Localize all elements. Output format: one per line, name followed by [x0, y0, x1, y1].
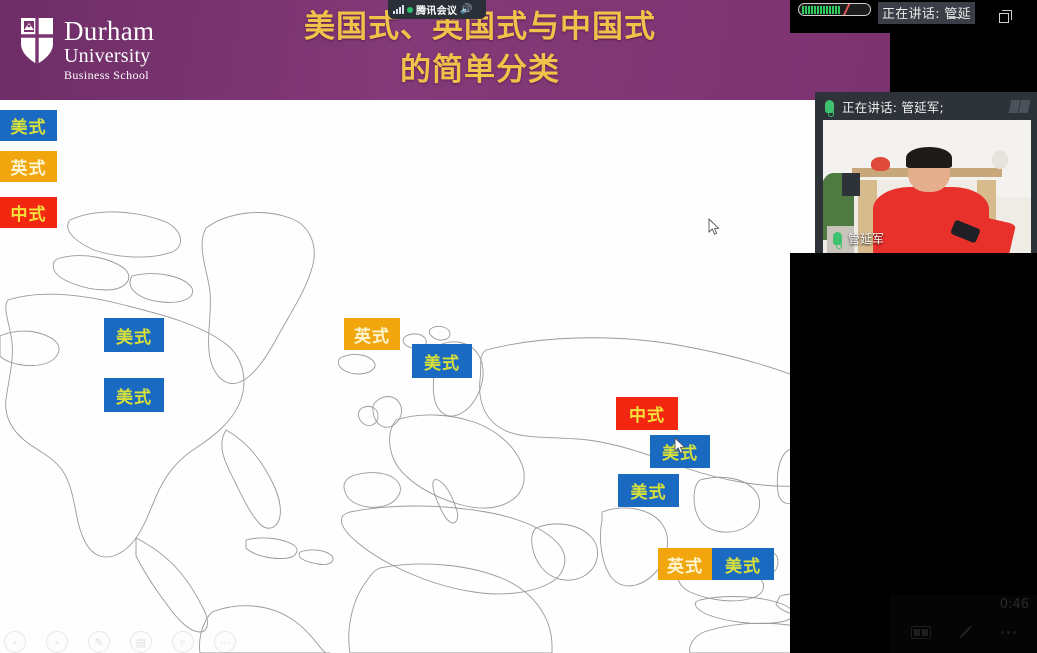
presenter-slide-grid-icon[interactable]: ▤	[130, 631, 152, 653]
more-options-icon[interactable]	[1001, 631, 1016, 634]
presenter-pen-tool-icon[interactable]: ✎	[88, 631, 110, 653]
microphone-icon	[825, 100, 834, 113]
video-panel-header: 正在讲话: 管延军;	[815, 92, 1037, 120]
restore-icon[interactable]	[993, 6, 1019, 28]
durham-logo: Durham University Business School	[18, 16, 218, 88]
presenter-toolbar[interactable]: ‹ › ✎ ▤ ⌕ ⋯	[4, 631, 236, 653]
window-background-bottom-right	[790, 253, 890, 653]
map-tag-china: 中式	[616, 397, 678, 430]
tencent-meeting-logo	[1010, 100, 1029, 113]
meeting-control-icons	[890, 619, 1037, 645]
map-tag-australia-west: 英式	[658, 548, 712, 580]
legend-tag-uk: 英式	[0, 151, 57, 182]
volume-meter-icon	[798, 3, 871, 16]
map-tag-north-america-west: 美式	[104, 318, 164, 352]
shared-slide: Durham University Business School 美国式、英国…	[0, 0, 893, 653]
map-tag-uk-europe: 英式	[344, 318, 400, 350]
presenter-more-icon[interactable]: ⋯	[214, 631, 236, 653]
world-map-area: 美式美式英式美式中式美式美式英式美式 NG ‹ › ✎ ▤ ⌕ ⋯	[0, 100, 893, 653]
participant-name-badge: 管延军	[829, 228, 890, 249]
video-panel-speaking-label: 正在讲话: 管延军;	[842, 97, 944, 116]
legend-tag-cn: 中式	[0, 197, 57, 228]
presenter-prev-slide-icon[interactable]: ‹	[4, 631, 26, 653]
participant-name: 管延军	[848, 230, 884, 247]
pill-app-label: 腾讯会议	[416, 2, 457, 17]
minimize-icon[interactable]	[943, 6, 969, 28]
gallery-view-icon[interactable]	[911, 626, 931, 639]
speaker-icon[interactable]: 🔊	[460, 4, 472, 15]
logo-line-university: University	[64, 46, 154, 66]
map-tag-australia-east: 美式	[712, 548, 774, 580]
speaking-indicator-strip: 正在讲话: 管延	[790, 0, 1037, 33]
tencent-floating-pill[interactable]: 腾讯会议 🔊	[388, 0, 486, 19]
durham-logo-text: Durham University Business School	[64, 16, 154, 81]
slide-title-line-2: 的简单分类	[230, 49, 730, 92]
signal-bars-icon	[393, 5, 404, 14]
map-tag-southeast-asia: 美式	[618, 474, 679, 507]
expand-fullscreen-icon[interactable]	[957, 623, 975, 641]
map-tag-north-america-south: 美式	[104, 378, 164, 412]
video-feed[interactable]: 管延军	[823, 120, 1031, 253]
logo-line-durham: Durham	[64, 18, 154, 45]
logo-line-business-school: Business School	[64, 69, 154, 81]
presenter-zoom-icon[interactable]: ⌕	[172, 631, 194, 653]
mic-muted-slash-icon	[842, 3, 851, 16]
legend-tag-us: 美式	[0, 110, 57, 141]
tencent-meeting-window: Durham University Business School 美国式、英国…	[0, 0, 1037, 653]
speaker-video-panel[interactable]: 正在讲话: 管延军;	[815, 92, 1037, 253]
map-tag-japan-korea: 美式	[650, 435, 710, 468]
window-controls	[943, 0, 1031, 33]
meeting-timer: 0:46	[1000, 597, 1029, 612]
connected-dot-icon	[407, 7, 413, 13]
durham-shield-icon	[18, 16, 56, 66]
meeting-control-strip: 0:46	[890, 595, 1037, 653]
presenter-next-slide-icon[interactable]: ›	[46, 631, 68, 653]
microphone-icon	[833, 232, 842, 245]
map-tag-central-europe: 美式	[412, 344, 472, 378]
